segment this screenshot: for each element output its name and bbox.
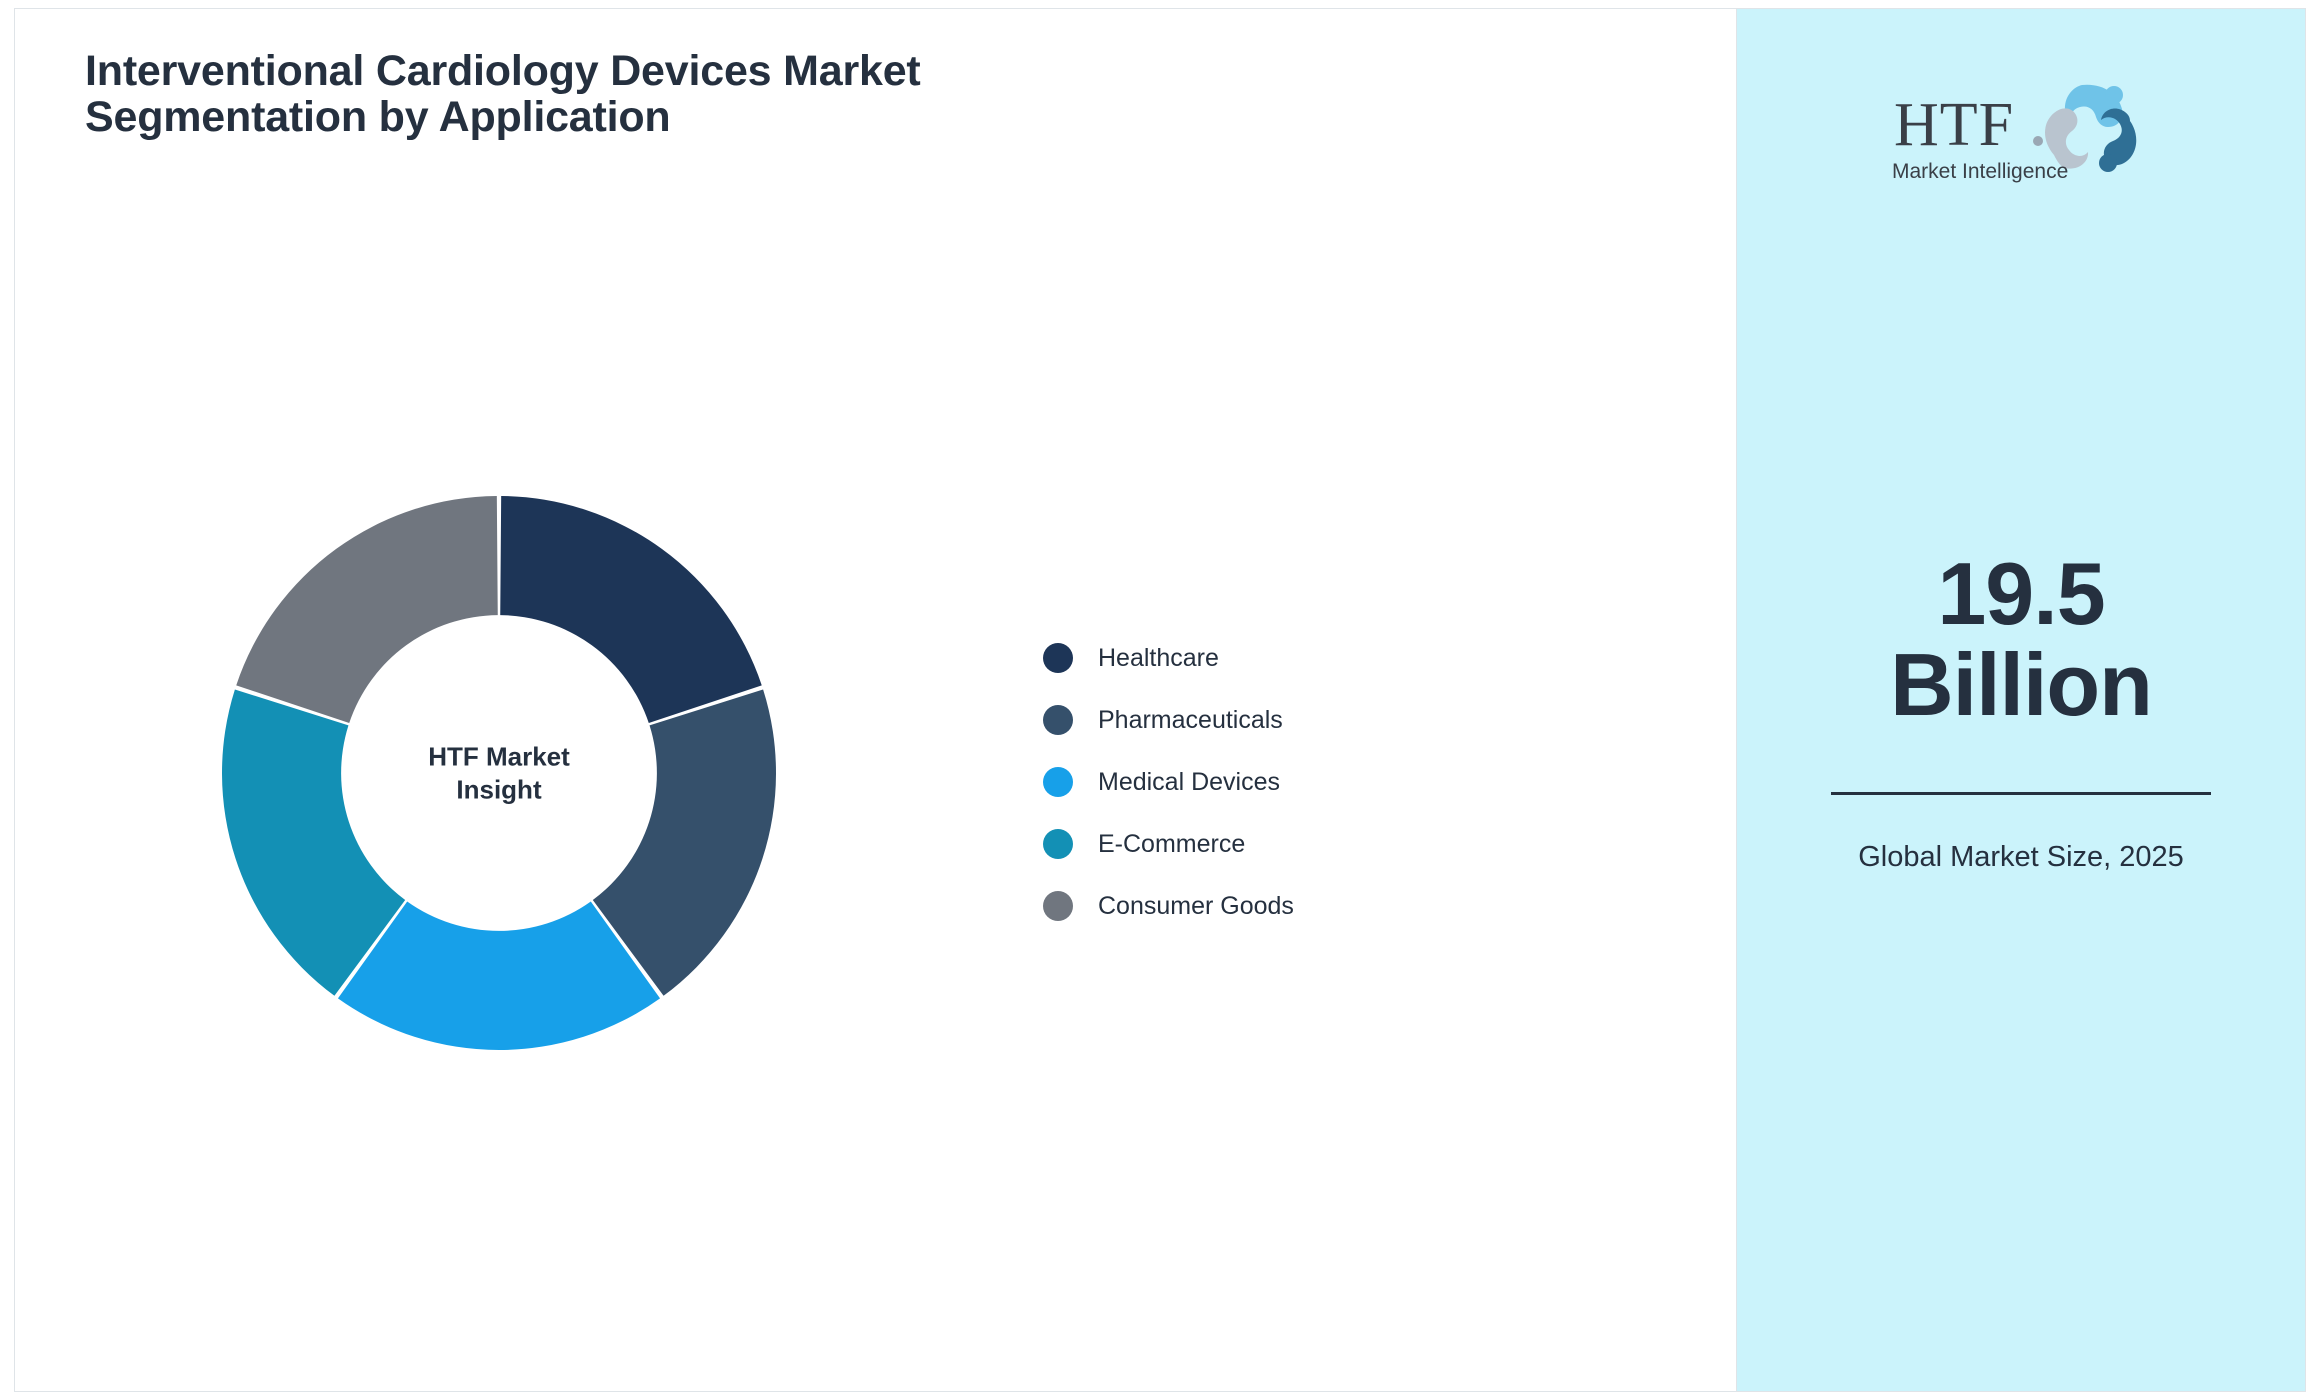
legend-item-label: Pharmaceuticals: [1098, 706, 1283, 735]
stat-divider: [1831, 792, 2211, 795]
legend-item-label: Medical Devices: [1098, 768, 1280, 797]
legend-swatch-icon: [1043, 767, 1073, 797]
stat-value: 19.5 Billion: [1737, 549, 2305, 730]
chart-pane: Interventional Cardiology Devices Market…: [15, 9, 1736, 1391]
donut-slice[interactable]: [500, 496, 762, 723]
legend-item[interactable]: Healthcare: [1043, 627, 1463, 689]
infographic-card: Interventional Cardiology Devices Market…: [14, 8, 2306, 1392]
legend-item[interactable]: Medical Devices: [1043, 751, 1463, 813]
logo-tagline: Market Intelligence: [1892, 160, 2068, 183]
legend-swatch-icon: [1043, 705, 1073, 735]
legend-item-label: E-Commerce: [1098, 830, 1245, 859]
legend-swatch-icon: [1043, 643, 1073, 673]
chart-legend: HealthcarePharmaceuticalsMedical Devices…: [1043, 627, 1463, 937]
legend-item-label: Consumer Goods: [1098, 892, 1294, 921]
legend-item-label: Healthcare: [1098, 644, 1219, 673]
htf-logo: HTF Mar: [1886, 71, 2156, 186]
legend-item[interactable]: Pharmaceuticals: [1043, 689, 1463, 751]
logo-triskelion-icon: [2045, 85, 2136, 172]
page-title: Interventional Cardiology Devices Market…: [85, 49, 1045, 140]
donut-chart: HTF Market Insight: [207, 481, 791, 1065]
legend-item[interactable]: Consumer Goods: [1043, 875, 1463, 937]
svg-text:HTF: HTF: [1894, 91, 2014, 159]
infographic-canvas: Interventional Cardiology Devices Market…: [0, 0, 2320, 1400]
stat-block: 19.5 Billion Global Market Size, 2025: [1737, 549, 2305, 877]
stat-pane: HTF Mar: [1736, 9, 2305, 1391]
htf-logo-svg: HTF Mar: [1886, 71, 2156, 186]
donut-chart-svg: [207, 481, 791, 1065]
legend-swatch-icon: [1043, 891, 1073, 921]
legend-swatch-icon: [1043, 829, 1073, 859]
legend-item[interactable]: E-Commerce: [1043, 813, 1463, 875]
stat-caption: Global Market Size, 2025: [1841, 837, 2201, 877]
donut-slice[interactable]: [236, 496, 498, 723]
